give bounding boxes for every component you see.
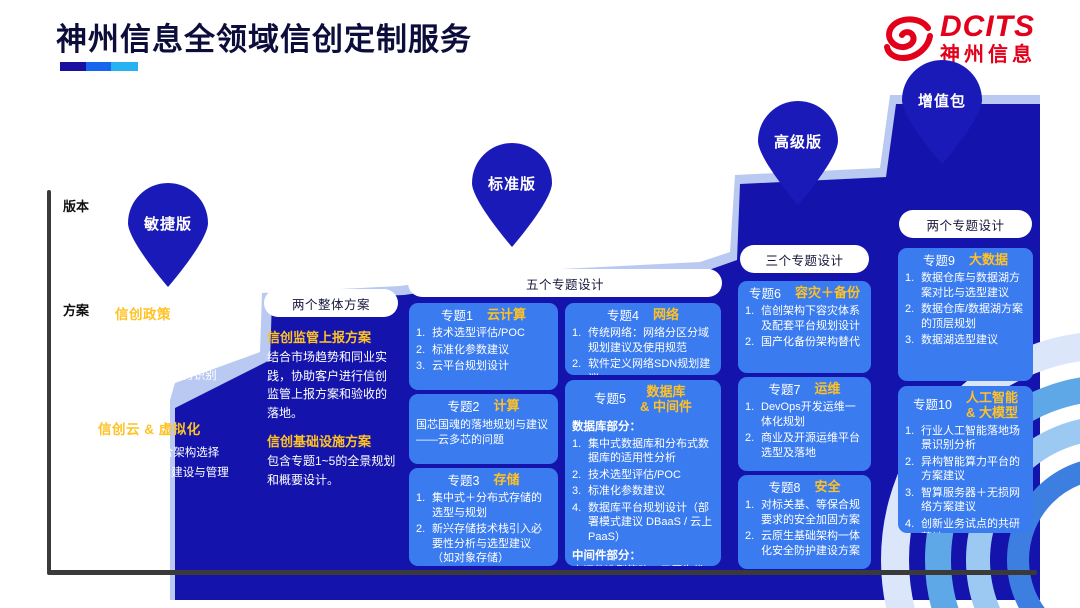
agile-section1-heading: 信创政策 xyxy=(115,303,171,323)
pin-advanced[interactable]: 高级版 xyxy=(752,101,844,205)
list-item: 1. 云 VS 虚拟化/超融合架构选择 xyxy=(55,443,229,463)
topic-2-number: 专题2 xyxy=(448,399,480,414)
list-item: 2.数据仓库/数据湖方案的顶层规划 xyxy=(905,302,1026,331)
pin-valueadd-label: 增值包 xyxy=(896,90,988,111)
list-item: 2.标准化参数建议 xyxy=(416,343,551,358)
list-item: 3.云平台规划设计 xyxy=(416,359,551,374)
topic-2-tag: 计算 xyxy=(493,399,519,414)
topic-7-list: 1.DevOps开发运维一体化规划 2.商业及开源运维平台选型及落地 xyxy=(745,400,864,460)
column-three-topics: 三个专题设计 专题6 容灾＋备份 1.信创架构下容灾体系及配套平台规划设计 2.… xyxy=(731,241,878,570)
list-item: 2.异构智能算力平台的方案建议 xyxy=(905,455,1026,484)
three-topics-pill[interactable]: 三个专题设计 xyxy=(740,245,869,273)
topic-6-list: 1.信创架构下容灾体系及配套平台规划设计 2.国产化备份架构替代 xyxy=(745,304,864,350)
overall-block2-heading: 信创基础设施方案 xyxy=(267,431,397,450)
topic-1-list: 1.技术选型评估/POC 2.标准化参数建议 3.云平台规划设计 xyxy=(416,326,551,374)
topic-8-list: 1.对标关基、等保合规要求的安全加固方案 2.云原生基础架构一体化安全防护建设方… xyxy=(745,498,864,558)
topic-card-7[interactable]: 专题7 运维 1.DevOps开发运维一体化规划 2.商业及开源运维平台选型及落… xyxy=(738,377,871,471)
list-item: 3.智算服务器＋无损网络方案建议 xyxy=(905,486,1026,515)
topic-4-list: 1.传统网络：网络分区分域规划建议及使用规范 2.软件定义网络SDN规划建议 xyxy=(572,326,714,375)
title-underline-rule xyxy=(60,62,138,71)
topic-card-9[interactable]: 专题9 大数据 1.数据仓库与数据湖方案对比与选型建议 2.数据仓库/数据湖方案… xyxy=(898,248,1033,381)
topic-card-4[interactable]: 专题4 网络 1.传统网络：网络分区分域规划建议及使用规范 2.软件定义网络SD… xyxy=(565,303,721,375)
list-item: 2.技术选型评估/POC xyxy=(572,468,714,483)
topic-card-5[interactable]: 专题5 数据库 & 中间件 数据库部分： 1.集中式数据库和分布式数据库的适用性… xyxy=(565,380,721,566)
list-item: 2. 多栈（云或虚拟化）建设与管理 xyxy=(55,463,229,483)
pin-agile[interactable]: 敏捷版 xyxy=(122,183,214,287)
list-item: 2.国产化备份架构替代 xyxy=(745,335,864,350)
topic-3-tag: 存储 xyxy=(493,473,519,488)
list-item: 3.标准化参数建议 xyxy=(572,484,714,499)
topic-5-subhead-mw: 中间件部分： xyxy=(572,547,714,563)
topic-5-number: 专题5 xyxy=(594,385,626,406)
list-item: 3.数据湖选型建议 xyxy=(905,333,1026,348)
overall-plans-pill[interactable]: 两个整体方案 xyxy=(264,289,398,317)
topic-5-tail: 中间件选型策略：云原生优先＋传统信创中间件＋开源管理 xyxy=(572,564,714,566)
overall-block1-heading: 信创监管上报方案 xyxy=(267,327,397,346)
agile-section2-heading: 信创云 & 虚拟化 xyxy=(98,418,201,438)
column-agile: 信创政策 1. 政策解读 2. 同业分享 3. 信创关键任务识别 信创云 & 虚… xyxy=(60,300,255,570)
axis-vertical-line xyxy=(47,190,51,572)
pin-advanced-label: 高级版 xyxy=(752,131,844,152)
list-item: 1.行业人工智能落地场景识别分析 xyxy=(905,424,1026,453)
column-five-topics: 五个专题设计 专题1 云计算 1.技术选型评估/POC 2.标准化参数建议 3.… xyxy=(405,266,725,570)
list-item: 1.技术选型评估/POC xyxy=(416,326,551,341)
topic-card-8[interactable]: 专题8 安全 1.对标关基、等保合规要求的安全加固方案 2.云原生基础架构一体化… xyxy=(738,475,871,569)
topic-9-number: 专题9 xyxy=(923,253,955,268)
topic-6-number: 专题6 xyxy=(749,286,781,301)
swirl-icon xyxy=(884,14,938,66)
list-item: 1.DevOps开发运维一体化规划 xyxy=(745,400,864,429)
topic-6-tag: 容灾＋备份 xyxy=(795,286,860,301)
topic-4-tag: 网络 xyxy=(653,308,679,323)
list-item: 3. 信创关键任务识别 xyxy=(112,366,217,386)
topic-10-number: 专题10 xyxy=(913,391,952,412)
column-two-topics: 两个专题设计 专题9 大数据 1.数据仓库与数据湖方案对比与选型建议 2.数据仓… xyxy=(890,205,1040,570)
list-item: 2.云原生基础架构一体化安全防护建设方案 xyxy=(745,529,864,558)
list-item: 2.新兴存储技术栈引入必要性分析与选型建议（如对象存储） xyxy=(416,522,551,566)
list-item: 1.集中式＋分布式存储的选型与规划 xyxy=(416,491,551,520)
topic-card-6[interactable]: 专题6 容灾＋备份 1.信创架构下容灾体系及配套平台规划设计 2.国产化备份架构… xyxy=(738,281,871,373)
pin-agile-label: 敏捷版 xyxy=(122,213,214,234)
pin-valueadd[interactable]: 增值包 xyxy=(896,60,988,164)
overall-block2-body: 包含专题1~5的全景规划和概要设计。 xyxy=(267,452,397,489)
topic-card-2[interactable]: 专题2 计算 国芯国魂的落地规划与建议——云多芯的问题 xyxy=(409,394,558,464)
topic-9-tag: 大数据 xyxy=(969,253,1008,268)
topic-4-number: 专题4 xyxy=(607,308,639,323)
topic-10-tag: 人工智能 & 大模型 xyxy=(966,391,1018,421)
column-overall-plans: 两个整体方案 信创监管上报方案 结合市场趋势和同业实践，协助客户进行信创监管上报… xyxy=(259,281,403,570)
pin-standard-label: 标准版 xyxy=(466,173,558,194)
agile-section2-list: 1. 云 VS 虚拟化/超融合架构选择 2. 多栈（云或虚拟化）建设与管理 3.… xyxy=(55,443,229,503)
list-item: 1.对标关基、等保合规要求的安全加固方案 xyxy=(745,498,864,527)
page-title: 神州信息全领域信创定制服务 xyxy=(56,14,472,59)
topic-7-number: 专题7 xyxy=(769,382,801,397)
slide-canvas: 神州信息全领域信创定制服务 DCITS 神州信息 版本 方案 敏捷版 标准版 xyxy=(0,0,1080,608)
topic-7-tag: 运维 xyxy=(814,382,840,397)
list-item: 1.数据仓库与数据湖方案对比与选型建议 xyxy=(905,271,1026,300)
agile-section1-list: 1. 政策解读 2. 同业分享 3. 信创关键任务识别 xyxy=(112,326,217,386)
list-item: 3. 关键技术问题解答 xyxy=(55,483,229,503)
topic-8-tag: 安全 xyxy=(814,480,840,495)
topic-1-number: 专题1 xyxy=(441,308,473,323)
two-topics-pill[interactable]: 两个专题设计 xyxy=(899,210,1032,238)
axis-baseline xyxy=(47,570,1037,575)
list-item: 4.数据库平台规划设计（部署模式建议 DBaaS / 云上PaaS） xyxy=(572,501,714,545)
topic-card-1[interactable]: 专题1 云计算 1.技术选型评估/POC 2.标准化参数建议 3.云平台规划设计 xyxy=(409,303,558,390)
topic-9-list: 1.数据仓库与数据湖方案对比与选型建议 2.数据仓库/数据湖方案的顶层规划 3.… xyxy=(905,271,1026,348)
topic-card-10[interactable]: 专题10 人工智能 & 大模型 1.行业人工智能落地场景识别分析 2.异构智能算… xyxy=(898,386,1033,533)
topic-card-3[interactable]: 专题3 存储 1.集中式＋分布式存储的选型与规划 2.新兴存储技术栈引入必要性分… xyxy=(409,468,558,566)
pin-standard[interactable]: 标准版 xyxy=(466,143,558,247)
list-item: 1.信创架构下容灾体系及配套平台规划设计 xyxy=(745,304,864,333)
list-item: 1.集中式数据库和分布式数据库的适用性分析 xyxy=(572,437,714,466)
list-item: 4.创新业务试点的共研落地 xyxy=(905,517,1026,533)
topic-5-tag: 数据库 & 中间件 xyxy=(640,385,692,415)
topic-1-tag: 云计算 xyxy=(487,308,526,323)
topic-3-list: 1.集中式＋分布式存储的选型与规划 2.新兴存储技术栈引入必要性分析与选型建议（… xyxy=(416,491,551,566)
topic-2-text: 国芯国魂的落地规划与建议——云多芯的问题 xyxy=(416,418,551,448)
topic-5-subhead-db: 数据库部分： xyxy=(572,418,714,434)
list-item: 1.传统网络：网络分区分域规划建议及使用规范 xyxy=(572,326,714,355)
topic-10-list: 1.行业人工智能落地场景识别分析 2.异构智能算力平台的方案建议 3.智算服务器… xyxy=(905,424,1026,533)
axis-label-version: 版本 xyxy=(63,196,89,215)
list-item: 1. 政策解读 xyxy=(112,326,217,346)
topic-5-list: 1.集中式数据库和分布式数据库的适用性分析 2.技术选型评估/POC 3.标准化… xyxy=(572,437,714,545)
topic-8-number: 专题8 xyxy=(769,480,801,495)
topic-3-number: 专题3 xyxy=(448,473,480,488)
logo-wordmark: DCITS xyxy=(940,12,1036,42)
list-item: 2. 同业分享 xyxy=(112,346,217,366)
five-topics-pill[interactable]: 五个专题设计 xyxy=(408,269,722,297)
list-item: 2.商业及开源运维平台选型及落地 xyxy=(745,431,864,460)
list-item: 2.软件定义网络SDN规划建议 xyxy=(572,357,714,375)
overall-block1-body: 结合市场趋势和同业实践，协助客户进行信创监管上报方案和验收的落地。 xyxy=(267,348,397,422)
